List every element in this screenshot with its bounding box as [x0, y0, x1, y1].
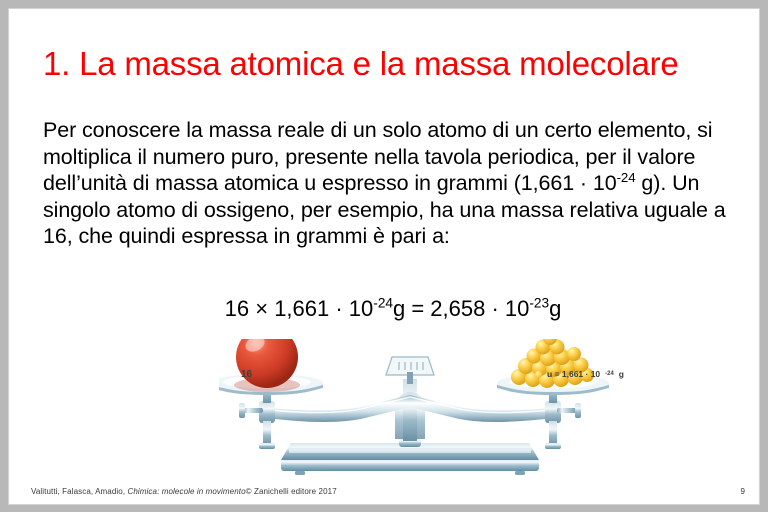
- relative-mass-label: 16: [241, 369, 252, 380]
- formula-exponent-minus-24: -24: [373, 296, 393, 311]
- formula-exponent-minus-23: -23: [529, 296, 549, 311]
- page-number: 9: [741, 487, 745, 496]
- yellow-spheres-pile: [511, 339, 594, 388]
- formula-right-side: g: [549, 296, 561, 321]
- balance-pointer-plate: [386, 357, 434, 384]
- red-sphere: [234, 339, 300, 392]
- body-paragraph: Per conoscere la massa reale di un solo …: [43, 117, 743, 250]
- footer-publisher: © Zanichelli editore 2017: [246, 487, 337, 496]
- balance-scale-figure: 16: [219, 339, 669, 484]
- footer-authors: Valitutti, Falasca, Amadio,: [31, 487, 127, 496]
- slide-canvas: 1. La massa atomica e la massa molecolar…: [8, 8, 760, 505]
- legend-unit-mass: u = 1,661 · 10-24 g: [535, 369, 624, 379]
- footer-work-title: Chimica: molecole in movimento: [127, 487, 245, 496]
- legend-yellow-dot-icon: [535, 371, 542, 378]
- formula-line: 16 × 1,661 · 10-24g = 2,658 · 10-23g: [43, 295, 743, 322]
- slide-frame: 1. La massa atomica e la massa molecolar…: [0, 0, 768, 512]
- body-text-part-1: Per conoscere la massa reale di un solo …: [43, 118, 712, 195]
- balance-scale-icon: [219, 339, 669, 484]
- footer-credit: Valitutti, Falasca, Amadio, Chimica: mol…: [31, 487, 337, 496]
- legend-text-pre: u = 1,661 · 10: [547, 369, 600, 379]
- page-title: 1. La massa atomica e la massa molecolar…: [43, 43, 743, 84]
- formula-left-side: 16 × 1,661 · 10: [225, 296, 374, 321]
- exponent-minus-24: -24: [617, 170, 636, 185]
- balance-base: [281, 443, 539, 475]
- legend-text-post: g: [619, 369, 624, 379]
- balance-column: [395, 379, 425, 447]
- formula-middle: g = 2,658 · 10: [393, 296, 529, 321]
